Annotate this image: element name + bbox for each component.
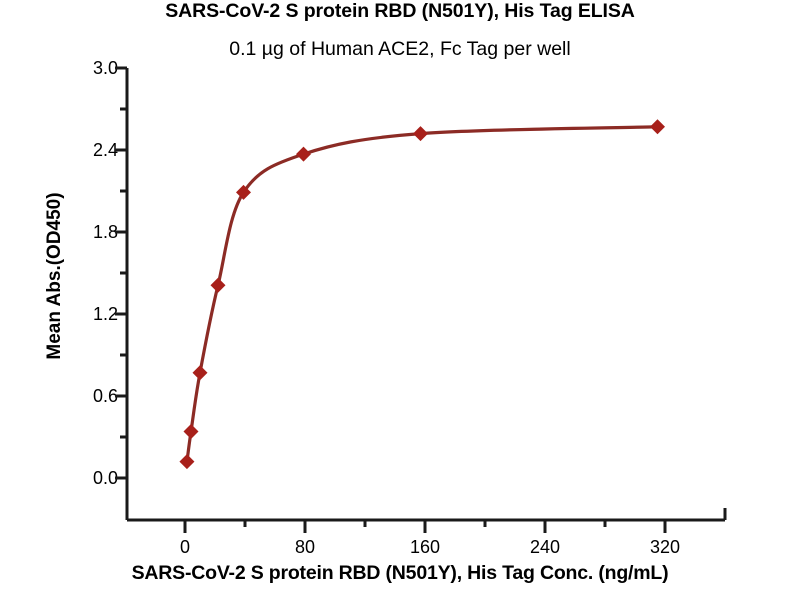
data-point-marker xyxy=(211,278,226,293)
data-point-marker xyxy=(650,119,665,134)
data-curve xyxy=(187,127,658,462)
data-point-marker xyxy=(296,147,311,162)
data-point-marker xyxy=(179,454,194,469)
data-point-marker xyxy=(413,126,428,141)
plot-area xyxy=(0,0,800,600)
data-point-marker xyxy=(193,365,208,380)
data-point-marker xyxy=(184,424,199,439)
elisa-chart-figure: SARS-CoV-2 S protein RBD (N501Y), His Ta… xyxy=(0,0,800,600)
data-markers xyxy=(179,119,665,469)
